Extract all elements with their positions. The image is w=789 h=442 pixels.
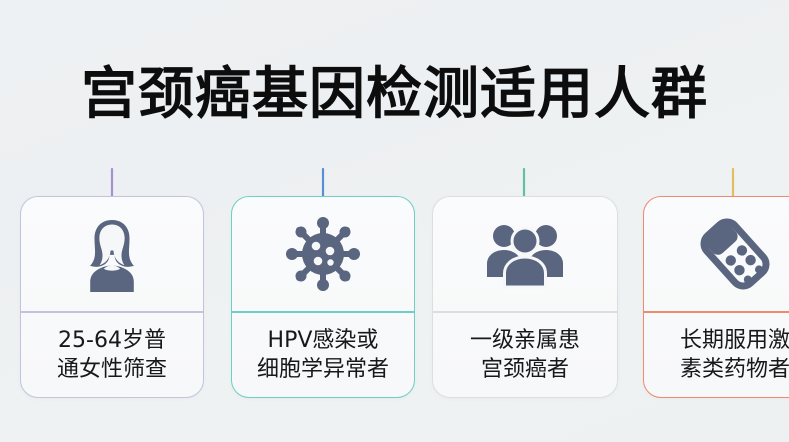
card-family-history[interactable]: 一级亲属患 宫颈癌者: [432, 196, 618, 398]
pill-blister-pack-icon: [697, 216, 773, 292]
card-label: 长期服用激 素类药物者: [644, 313, 789, 397]
card-hormone-medication[interactable]: 长期服用激 素类药物者: [643, 196, 789, 398]
card-label: 一级亲属患 宫颈癌者: [433, 313, 617, 397]
card-hpv-infection[interactable]: HPV感染或 细胞学异常者: [231, 196, 415, 398]
card-general-screening[interactable]: 25-64岁普 通女性筛查: [20, 196, 204, 398]
card-icon-area: [644, 197, 789, 311]
virus-icon: [285, 216, 361, 292]
woman-icon: [76, 216, 148, 292]
card-icon-area: [232, 197, 414, 311]
card-label: 25-64岁普 通女性筛查: [21, 313, 203, 397]
card-icon-area: [433, 197, 617, 311]
card-icon-area: [21, 197, 203, 311]
family-group-icon: [482, 219, 568, 289]
card-row: 25-64岁普 通女性筛查: [0, 196, 789, 400]
page-title: 宫颈癌基因检测适用人群: [0, 62, 789, 128]
card-label: HPV感染或 细胞学异常者: [232, 313, 414, 397]
infographic-canvas: 宫颈癌基因检测适用人群: [0, 0, 789, 442]
